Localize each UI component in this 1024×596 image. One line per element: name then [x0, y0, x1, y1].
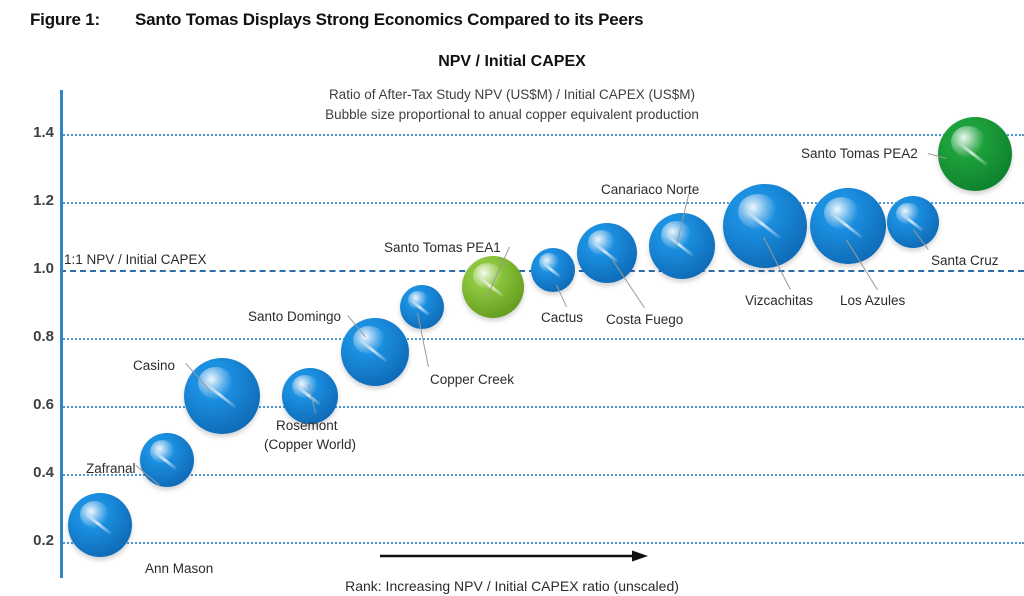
bubble-streak [665, 233, 694, 256]
y-tick-label-1.2: 1.2 [8, 192, 54, 209]
bubble-highlight [80, 501, 109, 528]
bubble-streak [153, 450, 177, 470]
bubble-casino[interactable] [184, 358, 260, 434]
point-label-los-azules: Los Azules [840, 293, 905, 308]
bubble-highlight [738, 194, 777, 229]
bubble-cactus[interactable] [531, 248, 575, 292]
bubble-highlight [150, 440, 175, 463]
x-axis-caption: Rank: Increasing NPV / Initial CAPEX rat… [0, 578, 1024, 594]
gridline-0.8 [60, 338, 1024, 340]
bubble-streak [956, 140, 988, 166]
bubble-highlight [473, 263, 502, 289]
point-label-santo-tomas-pea1: Santo Tomas PEA1 [384, 240, 501, 255]
bubble-highlight [824, 197, 859, 229]
bubble-ann-mason[interactable] [68, 493, 132, 557]
bubble-streak [829, 211, 862, 238]
bubble-highlight [408, 291, 428, 309]
bubble-costa-fuego[interactable] [577, 223, 637, 283]
y-tick-label-1.0: 1.0 [8, 260, 54, 277]
bubble-streak [358, 338, 388, 362]
bubble-highlight [896, 203, 920, 225]
point-label-santa-cruz: Santa Cruz [931, 253, 999, 268]
bubble-streak [411, 299, 431, 315]
y-tick-label-0.4: 0.4 [8, 464, 54, 481]
rank-arrow-icon [380, 550, 648, 562]
point-label-canariaco-norte: Canariaco Norte [601, 182, 699, 197]
figure-title: Santo Tomas Displays Strong Economics Co… [135, 10, 643, 29]
bubble-chart: NPV / Initial CAPEX Ratio of After-Tax S… [0, 45, 1024, 596]
bubble-streak [592, 241, 618, 263]
bubble-highlight [951, 126, 985, 157]
point-label-santo-tomas-pea2: Santo Tomas PEA2 [801, 146, 918, 161]
bubble-santa-cruz[interactable] [887, 196, 939, 248]
y-tick-label-0.8: 0.8 [8, 328, 54, 345]
gridline-1.4 [60, 134, 1024, 136]
chart-subtitle-2: Bubble size proportional to anual copper… [0, 107, 1024, 122]
figure-caption: Figure 1:Santo Tomas Displays Strong Eco… [30, 10, 643, 30]
point-label-costa-fuego: Costa Fuego [606, 312, 683, 327]
y-tick-label-0.2: 0.2 [8, 532, 54, 549]
gridline-0.4 [60, 474, 1024, 476]
chart-title: NPV / Initial CAPEX [0, 53, 1024, 71]
point-label-casino: Casino [133, 358, 175, 373]
chart-subtitle-1: Ratio of After-Tax Study NPV (US$M) / In… [0, 87, 1024, 102]
one-to-one-annotation: 1:1 NPV / Initial CAPEX [64, 252, 207, 267]
bubble-streak [203, 381, 236, 408]
y-tick-label-1.4: 1.4 [8, 124, 54, 141]
y-tick-label-0.6: 0.6 [8, 396, 54, 413]
bubble-santo-domingo[interactable] [341, 318, 409, 386]
point-label-santo-domingo: Santo Domingo [248, 309, 341, 324]
point-label-ann-mason: Ann Mason [145, 561, 213, 576]
figure-number: Figure 1: [30, 10, 135, 30]
bubble-vizcachitas[interactable] [723, 184, 807, 268]
y-axis-line [60, 90, 63, 578]
bubble-highlight [292, 375, 318, 399]
bubble-santo-tomas-pea1[interactable] [462, 256, 524, 318]
bubble-streak [542, 262, 562, 278]
bubble-streak [900, 212, 923, 231]
point-label-cactus: Cactus [541, 310, 583, 325]
point-label-zafranal: Zafranal [86, 461, 136, 476]
point-label-copper-creek: Copper Creek [430, 372, 514, 387]
point-label-vizcachitas: Vizcachitas [745, 293, 813, 308]
bubble-highlight [539, 253, 559, 271]
bubble-zafranal[interactable] [140, 433, 194, 487]
point-label-rosemont-sub: (Copper World) [264, 437, 356, 452]
bubble-santo-tomas-pea2[interactable] [938, 117, 1012, 191]
gridline-0.2 [60, 542, 1024, 544]
point-label-rosemont: Rosemont [276, 418, 338, 433]
bubble-los-azules[interactable] [810, 188, 886, 264]
bubble-streak [744, 209, 780, 238]
bubble-highlight [588, 230, 616, 255]
bubble-streak [84, 513, 112, 536]
bubble-copper-creek[interactable] [400, 285, 444, 329]
